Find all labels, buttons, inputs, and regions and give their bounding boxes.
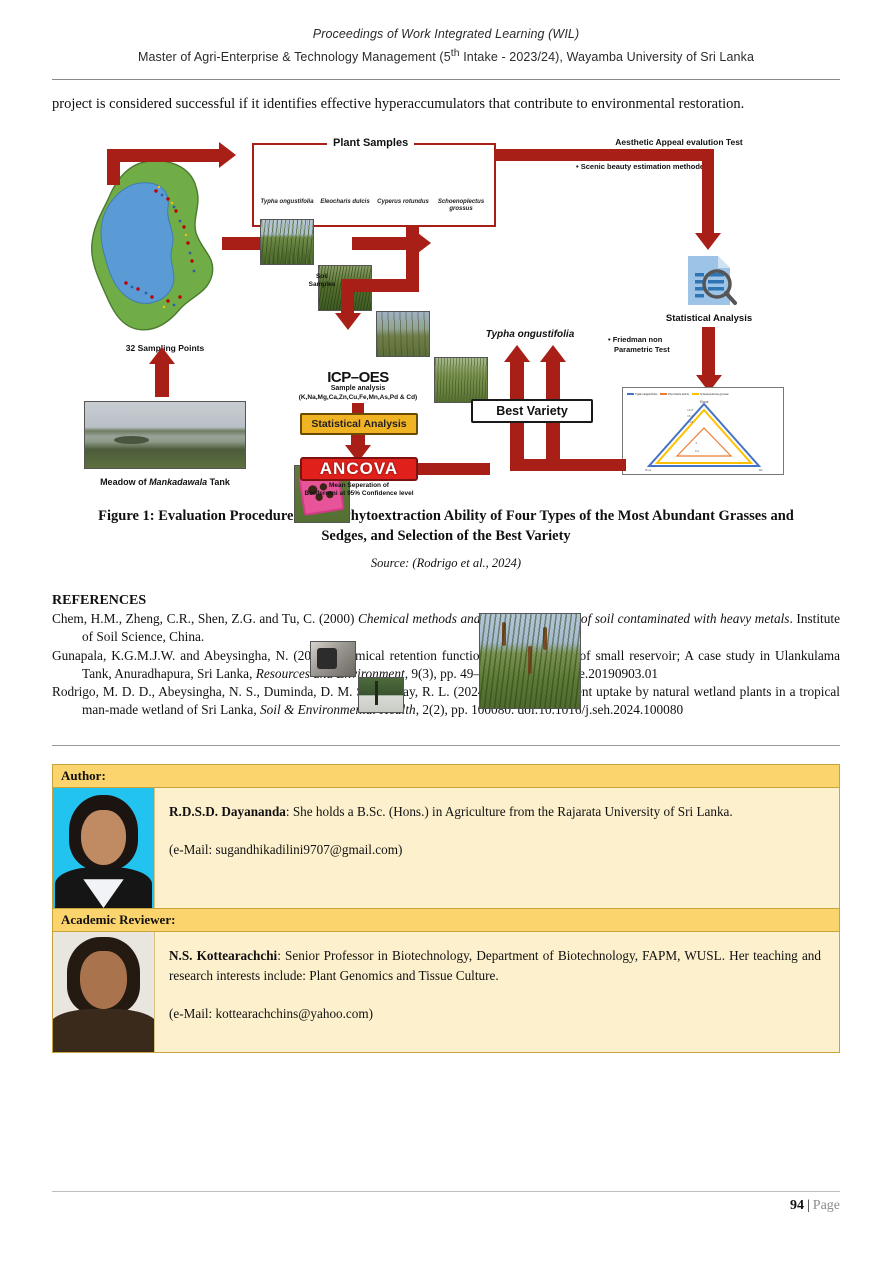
legend-item-2: Schoenoplectus grossus	[692, 391, 729, 397]
typha-best-photo	[479, 613, 581, 709]
reviewer-role-label: Academic Reviewer:	[53, 909, 839, 932]
cattail-2	[528, 646, 532, 674]
legend-label-2: Schoenoplectus grossus	[700, 392, 729, 396]
meadow-photo	[84, 401, 246, 469]
plant-photo-typha	[260, 219, 314, 265]
statistical-analysis-doc-icon	[680, 253, 738, 311]
intake-superscript: th	[451, 48, 460, 59]
header-line-2-post: Intake - 2023/24), Wayamba University of…	[460, 50, 754, 64]
plant-caption-2: Eleocharis dulcis	[315, 199, 375, 207]
arrow-best-up-head-left	[504, 345, 530, 362]
aesthetic-test-bullet: • Scenic beauty estimation methode	[576, 162, 704, 171]
meadow-label: Meadow of Mankadawala Tank	[70, 477, 260, 488]
reference-1-pre: Chem, H.M., Zheng, C.R., Shen, Z.G. and …	[52, 611, 358, 626]
reviewer-bio-card: Academic Reviewer: N.S. Kottearachchi: S…	[52, 908, 840, 1053]
section-divider	[52, 745, 840, 746]
reviewer-photo	[53, 932, 155, 1052]
page-header: Proceedings of Work Integrated Learning …	[0, 0, 892, 67]
arrow-map-to-plants-horz	[107, 149, 219, 162]
ancova-box: ANCOVA	[300, 457, 418, 481]
legend-item-0: Typha angustifolia	[627, 391, 657, 397]
arrow-best-up-shaft-right	[546, 361, 560, 399]
ancova-sub1: Mean Seperation of	[288, 482, 430, 490]
arrow-best-up-shaft-left	[510, 361, 524, 399]
reference-item: Chem, H.M., Zheng, C.R., Shen, Z.G. and …	[52, 610, 840, 646]
reference-item: Gunapala, K.G.M.J.W. and Abeysingha, N. …	[52, 647, 840, 683]
svg-text:Root: Root	[645, 468, 652, 472]
footer-page-number: 94	[790, 1198, 804, 1213]
meadow-label-italic: Mankadawala	[149, 477, 207, 487]
aesthetic-bullet-text: Scenic beauty estimation methode	[581, 162, 704, 171]
reviewer-bio-body: N.S. Kottearachchi: Senior Professor in …	[53, 932, 839, 1052]
arrow-to-icp-vert	[341, 279, 354, 313]
legend-label-0: Typha angustifolia	[635, 392, 657, 396]
arrow-to-icp-head	[335, 313, 361, 330]
svg-text:0.2: 0.2	[695, 449, 700, 453]
page-footer: 94|Page	[52, 1191, 840, 1214]
arrow-aesthetic-horz	[496, 149, 714, 161]
cattail-1	[502, 622, 506, 646]
meadow-label-pre: Meadow of	[100, 477, 149, 487]
figure-source: Source: (Rodrigo et al., 2024)	[52, 556, 840, 571]
aesthetic-test-title: Aesthetic Appeal evalution Test	[564, 137, 794, 147]
author-bio-card: Author: R.D.S.D. Dayananda: She holds a …	[52, 764, 840, 909]
header-line-2-pre: Master of Agri-Enterprise & Technology M…	[138, 50, 451, 64]
radar-chart-legend: Typha angustifolia Eleocharis dulcis Sch…	[627, 391, 779, 397]
arrow-best-to-chart	[592, 459, 626, 471]
author-photo	[53, 788, 155, 908]
meadow-label-post: Tank	[207, 477, 230, 487]
arrow-map-to-plants-head	[219, 142, 236, 168]
plant-photo-cyperus	[376, 311, 430, 357]
author-email: (e-Mail: sugandhikadilini9707@gmail.com)	[169, 840, 733, 860]
header-line-1: Proceedings of Work Integrated Learning …	[52, 24, 840, 45]
author-description: : She holds a B.Sc. (Hons.) in Agricultu…	[286, 804, 733, 819]
avatar-face	[81, 810, 125, 865]
legend-label-1: Eleocharis dulcis	[668, 392, 689, 396]
reference-item: Rodrigo, M. D. D., Abeysingha, N. S., Du…	[52, 683, 840, 719]
reviewer-name: N.S. Kottearachchi	[169, 948, 277, 963]
arrow-meadow-to-map-shaft	[155, 363, 169, 397]
header-line-2: Master of Agri-Enterprise & Technology M…	[52, 45, 840, 68]
svg-text:16: 16	[690, 420, 694, 424]
author-bio-body: R.D.S.D. Dayananda: She holds a B.Sc. (H…	[53, 788, 839, 908]
legend-item-1: Eleocharis dulcis	[660, 391, 689, 397]
author-name: R.D.S.D. Dayananda	[169, 804, 286, 819]
statistical-analysis-icon-label: Statistical Analysis	[652, 313, 766, 324]
arrow-best-up-head-right	[540, 345, 566, 362]
footer-separator: |	[807, 1198, 810, 1213]
friedman-bullet-line2: Parametric Test	[614, 345, 670, 354]
icp-oes-sub1: Sample analysis	[300, 385, 416, 393]
arrow-aesthetic-head	[695, 233, 721, 250]
arrow-plants-down-vert	[406, 227, 419, 279]
statistical-analysis-box: Statistical Analysis	[300, 413, 418, 435]
svg-text:Mn: Mn	[759, 468, 763, 472]
svg-text:Shoot: Shoot	[700, 400, 709, 404]
arrow-aesthetic-vert	[702, 149, 714, 235]
avatar-body	[53, 1009, 155, 1052]
intro-paragraph: project is considered successful if it i…	[52, 94, 840, 115]
reviewer-bio-text: N.S. Kottearachchi: Senior Professor in …	[155, 932, 839, 1052]
plant-caption-3: Cyperus rotundus	[373, 199, 433, 207]
references-heading: REFERENCES	[52, 593, 840, 609]
plant-samples-title: Plant Samples	[327, 137, 414, 149]
footer-page-word: Page	[813, 1198, 840, 1213]
author-role-label: Author:	[53, 765, 839, 788]
typha-best-label: Typha ongustifolia	[467, 329, 593, 341]
svg-text:16.4: 16.4	[687, 414, 693, 418]
arrow-ancova-to-best	[418, 463, 490, 475]
avatar-face	[80, 951, 126, 1009]
header-divider	[52, 79, 840, 80]
svg-text:4: 4	[695, 441, 697, 445]
best-variety-box: Best Variety	[471, 399, 593, 423]
ancova-sub2: Bonferroni at 95% Confidence level	[278, 490, 440, 498]
radar-chart-box: Typha angustifolia Eleocharis dulcis Sch…	[622, 387, 784, 475]
figure-canvas: 32 Sampling Points Meadow of Mankadawala…	[52, 129, 840, 499]
author-bio-text: R.D.S.D. Dayananda: She holds a B.Sc. (H…	[155, 788, 751, 908]
plant-samples-panel	[252, 143, 496, 227]
friedman-bullet-line1: Friedman non	[613, 335, 663, 344]
plant-caption-4: Schoenoplectus grossus	[431, 199, 491, 214]
document-page: Proceedings of Work Integrated Learning …	[0, 0, 892, 1262]
reviewer-email: (e-Mail: kottearachchins@yahoo.com)	[169, 1004, 821, 1024]
plant-caption-1: Typha ongustifolia	[257, 199, 317, 207]
page-content: project is considered successful if it i…	[0, 94, 892, 1053]
radar-chart-plot: Shoot 16.6 16.4 16 4 0.2 Root Mn	[623, 398, 785, 474]
cattail-3	[543, 627, 547, 650]
arrow-soil-right-shaft	[352, 237, 414, 250]
friedman-bullet: • Friedman non Parametric Test	[608, 335, 670, 355]
svg-text:16.6: 16.6	[687, 408, 693, 412]
plant-photo-schoenoplectus	[434, 357, 488, 403]
figure-1-graphic: 32 Sampling Points Meadow of Mankadawala…	[52, 129, 840, 499]
icp-photo-left	[310, 641, 356, 677]
arrow-meadow-to-map-head	[149, 347, 175, 364]
icp-photo-right	[358, 677, 404, 713]
figure-caption: Figure 1: Evaluation Procedure for the P…	[52, 507, 840, 546]
icp-oes-sub2: (K,Na,Mg,Ca,Zn,Cu,Fe,Mn,As,Pd & Cd)	[280, 394, 436, 402]
arrow-stat-icon-down-shaft	[702, 327, 715, 375]
